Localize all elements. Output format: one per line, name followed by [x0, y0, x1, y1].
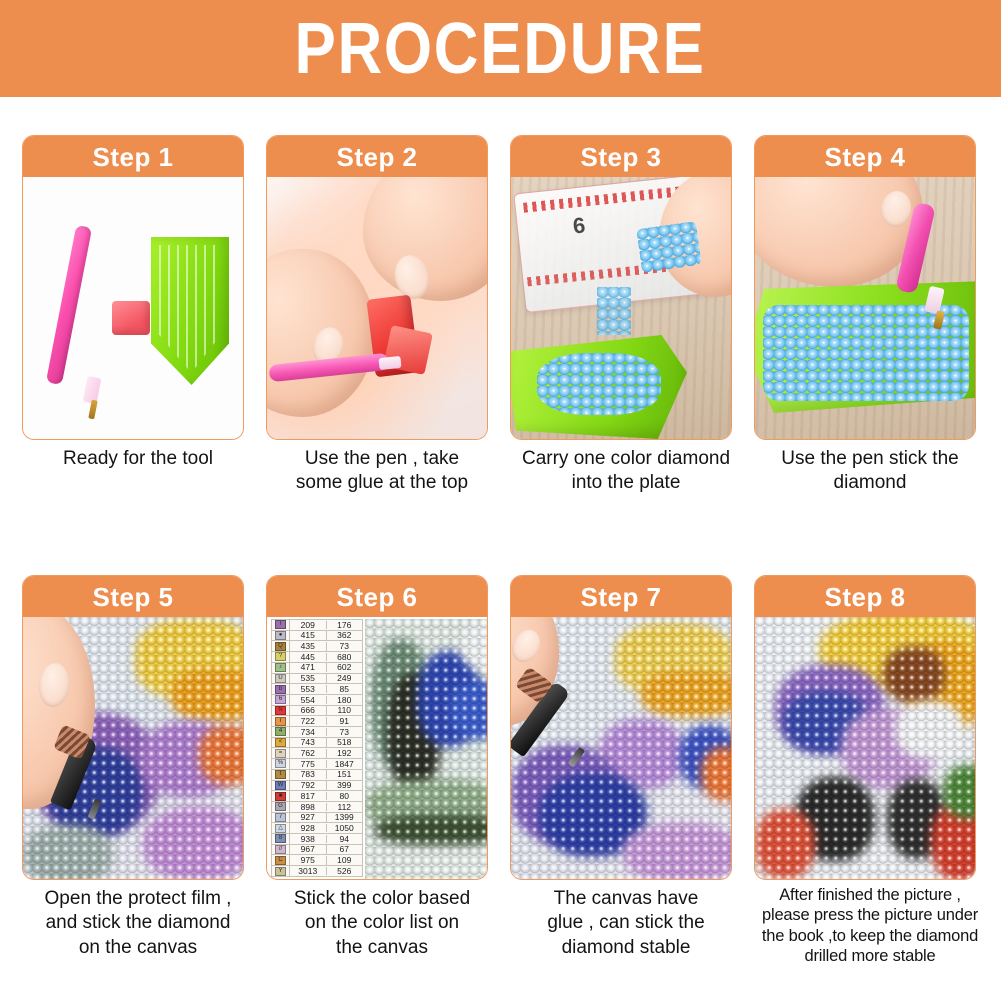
color-code-cell: 722 — [290, 717, 327, 726]
color-code-cell: 898 — [290, 803, 327, 812]
step-5-label: Step 5 — [92, 584, 173, 610]
step-6-illustration: T209176●415362Q43573?445680♪471602U53524… — [267, 617, 487, 879]
color-list-row: △9281050 — [272, 823, 362, 834]
color-count-cell: 110 — [327, 706, 363, 715]
color-symbol-cell: % — [272, 759, 290, 769]
step-2-label: Step 2 — [336, 144, 417, 170]
color-symbol-cell: U — [272, 674, 290, 684]
color-code-cell: 209 — [290, 621, 327, 630]
color-swatch: I — [275, 717, 286, 726]
color-list-row: <743518 — [272, 738, 362, 749]
bag-number-label: 6 — [572, 212, 587, 239]
color-list-row: ●415362 — [272, 631, 362, 642]
pen-tip-icon — [568, 747, 585, 767]
color-count-cell: 67 — [327, 845, 363, 854]
color-code-cell: 553 — [290, 685, 327, 694]
step-5-caption: Open the protect film , and stick the di… — [16, 887, 260, 960]
step-3-label: Step 3 — [580, 144, 661, 170]
color-code-cell: 743 — [290, 738, 327, 747]
color-swatch: W — [275, 781, 286, 790]
color-list-row: U535249 — [272, 674, 362, 685]
color-count-cell: 180 — [327, 696, 363, 705]
color-code-cell: 927 — [290, 813, 327, 822]
color-swatch: ● — [275, 631, 286, 640]
step-6-label: Step 6 — [336, 584, 417, 610]
color-code-cell: 471 — [290, 663, 327, 672]
color-swatch: % — [275, 759, 286, 768]
color-count-cell: 109 — [327, 856, 363, 865]
color-symbol-cell: 6 — [272, 695, 290, 705]
color-list-row: //96767 — [272, 845, 362, 856]
step-card-1: Step 1 Ready for the tool — [16, 97, 260, 549]
step-8-label: Step 8 — [824, 584, 905, 610]
color-swatch: t — [275, 770, 286, 779]
step-4-label: Step 4 — [824, 144, 905, 170]
step-2-caption: Use the pen , take some glue at the top — [260, 447, 504, 496]
color-code-cell: 3013 — [290, 867, 327, 876]
color-list-row: b55385 — [272, 684, 362, 695]
step-card-5: Step 5 — [16, 537, 260, 989]
color-symbol-cell: G — [272, 802, 290, 812]
step-3-caption: Carry one color diamond into the plate — [504, 447, 748, 496]
color-count-cell: 1050 — [327, 824, 363, 833]
diamond-beads-in-bag — [636, 221, 702, 273]
color-code-cell: 783 — [290, 770, 327, 779]
color-list-table: T209176●415362Q43573?445680♪471602U53524… — [271, 619, 363, 877]
color-code-cell: 666 — [290, 706, 327, 715]
color-list-row: 893894 — [272, 834, 362, 845]
color-symbol-cell: 4 — [272, 727, 290, 737]
page-header-banner: PROCEDURE — [0, 0, 1001, 97]
color-swatch: ♪ — [275, 663, 286, 672]
color-symbol-cell: = — [272, 748, 290, 758]
color-count-cell: 399 — [327, 781, 363, 790]
step-7-header: Step 7 — [511, 576, 731, 617]
color-count-cell: 1847 — [327, 760, 363, 769]
steps-row-bottom: Step 5 — [0, 537, 1001, 989]
step-8-illustration — [755, 617, 975, 879]
color-swatch: Q — [275, 642, 286, 651]
color-count-cell: 151 — [327, 770, 363, 779]
color-count-cell: 1399 — [327, 813, 363, 822]
color-symbol-cell: N — [272, 706, 290, 716]
color-list-row: ♪471602 — [272, 663, 362, 674]
color-swatch: C — [275, 856, 286, 865]
color-code-cell: 775 — [290, 760, 327, 769]
color-code-cell: 445 — [290, 653, 327, 662]
step-2-illustration — [267, 177, 487, 439]
step-5-illustration — [23, 617, 243, 879]
step-8-caption: After finished the picture , please pres… — [748, 885, 992, 967]
color-count-cell: 526 — [327, 867, 363, 876]
step-card-8: Step 8 — [748, 537, 992, 989]
color-swatch: 7 — [275, 813, 286, 822]
color-code-cell: 928 — [290, 824, 327, 833]
color-count-cell: 249 — [327, 674, 363, 683]
color-list-row: N666110 — [272, 706, 362, 717]
color-symbol-cell: Y — [272, 866, 290, 876]
step-4-illustration — [755, 177, 975, 439]
color-swatch: 4 — [275, 727, 286, 736]
step-5-card-frame: Step 5 — [22, 575, 244, 880]
color-swatch: N — [275, 706, 286, 715]
diamond-beads-in-tray — [537, 353, 661, 415]
step-1-header: Step 1 — [23, 136, 243, 177]
step-3-card-frame: Step 3 6 — [510, 135, 732, 440]
color-symbol-cell: 8 — [272, 834, 290, 844]
color-count-cell: 518 — [327, 738, 363, 747]
color-swatch: Y — [275, 867, 286, 876]
color-swatch: U — [275, 674, 286, 683]
color-count-cell: 176 — [327, 621, 363, 630]
step-card-6: Step 6 — [260, 537, 504, 989]
color-code-cell: 734 — [290, 728, 327, 737]
color-symbol-cell: ♪ — [272, 663, 290, 673]
color-list-row: 6554180 — [272, 695, 362, 706]
step-7-card-frame: Step 7 — [510, 575, 732, 880]
color-list-row: 473473 — [272, 727, 362, 738]
pen-tip-icon — [88, 798, 102, 819]
step-card-2: Step 2 — [260, 97, 504, 549]
color-symbol-cell: △ — [272, 823, 290, 833]
step-7-illustration — [511, 617, 731, 879]
color-count-cell: 362 — [327, 631, 363, 640]
color-swatch: △ — [275, 824, 286, 833]
color-swatch: T — [275, 620, 286, 629]
color-symbol-cell: 7 — [272, 813, 290, 823]
color-code-cell: 554 — [290, 696, 327, 705]
color-swatch: // — [275, 845, 286, 854]
step-6-caption: Stick the color based on the color list … — [260, 887, 504, 960]
step-8-card-frame: Step 8 — [754, 575, 976, 880]
color-list-row: T209176 — [272, 620, 362, 631]
step-card-7: Step 7 — [504, 537, 748, 989]
step-4-header: Step 4 — [755, 136, 975, 177]
step-7-caption: The canvas have glue , can stick the dia… — [504, 887, 748, 960]
color-code-cell: 762 — [290, 749, 327, 758]
color-list-row: ?445680 — [272, 652, 362, 663]
color-swatch: 6 — [275, 695, 286, 704]
color-code-cell: 975 — [290, 856, 327, 865]
page-title: PROCEDURE — [295, 13, 706, 85]
color-swatch: b — [275, 685, 286, 694]
falling-diamonds — [597, 287, 631, 335]
color-list-row: I72291 — [272, 716, 362, 727]
color-count-cell: 602 — [327, 663, 363, 672]
step-4-caption: Use the pen stick the diamond — [748, 447, 992, 496]
glue-square-icon — [112, 301, 150, 335]
color-count-cell: 73 — [327, 728, 363, 737]
color-list-row: W792399 — [272, 781, 362, 792]
color-count-cell: 112 — [327, 803, 363, 812]
step-3-illustration: 6 — [511, 177, 731, 439]
color-swatch: < — [275, 738, 286, 747]
color-swatch: ? — [275, 652, 286, 661]
color-swatch: = — [275, 749, 286, 758]
step-6-card-frame: Step 6 — [266, 575, 488, 880]
color-count-cell: 192 — [327, 749, 363, 758]
color-count-cell: 91 — [327, 717, 363, 726]
step-2-card-frame: Step 2 — [266, 135, 488, 440]
step-1-card-frame: Step 1 — [22, 135, 244, 440]
color-count-cell: 85 — [327, 685, 363, 694]
step-card-3: Step 3 6 — [504, 97, 748, 549]
color-symbol-cell: Q — [272, 641, 290, 651]
step-1-caption: Ready for the tool — [16, 447, 260, 471]
color-list-row: Y3013526 — [272, 866, 362, 876]
color-symbol-cell: W — [272, 781, 290, 791]
color-symbol-cell: I — [272, 716, 290, 726]
color-list-row: 79271399 — [272, 813, 362, 824]
step-4-card-frame: Step 4 — [754, 135, 976, 440]
step-8-header: Step 8 — [755, 576, 975, 617]
color-code-cell: 792 — [290, 781, 327, 790]
step-card-4: Step 4 — [748, 97, 992, 549]
color-list-row: G898112 — [272, 802, 362, 813]
color-code-cell: 535 — [290, 674, 327, 683]
color-symbol-cell: ● — [272, 631, 290, 641]
finished-mosaic-canvas — [755, 617, 975, 879]
step-6-header: Step 6 — [267, 576, 487, 617]
step-7-label: Step 7 — [580, 584, 661, 610]
step-5-header: Step 5 — [23, 576, 243, 617]
step-1-label: Step 1 — [92, 144, 173, 170]
color-code-cell: 817 — [290, 792, 327, 801]
pen-tip-icon — [378, 356, 401, 370]
color-list-row: t783151 — [272, 770, 362, 781]
color-count-cell: 94 — [327, 835, 363, 844]
color-symbol-cell: T — [272, 620, 290, 630]
color-swatch: 8 — [275, 834, 286, 843]
color-swatch: G — [275, 802, 286, 811]
color-symbol-cell: ■ — [272, 791, 290, 801]
color-symbol-cell: C — [272, 855, 290, 865]
color-list-row: Q43573 — [272, 641, 362, 652]
color-code-cell: 967 — [290, 845, 327, 854]
color-code-cell: 415 — [290, 631, 327, 640]
color-swatch: ■ — [275, 792, 286, 801]
color-list-row: %7751847 — [272, 759, 362, 770]
color-list-row: C975109 — [272, 855, 362, 866]
steps-row-top: Step 1 Ready for the tool — [0, 97, 1001, 549]
step-3-header: Step 3 — [511, 136, 731, 177]
procedure-infographic: PROCEDURE Step 1 — [0, 0, 1001, 1001]
color-list-row: =762192 — [272, 748, 362, 759]
partial-mosaic-canvas — [365, 619, 487, 879]
color-symbol-cell: // — [272, 845, 290, 855]
color-symbol-cell: < — [272, 738, 290, 748]
color-list-row: ■81780 — [272, 791, 362, 802]
steps-grid: Step 1 Ready for the tool — [0, 97, 1001, 1001]
step-2-header: Step 2 — [267, 136, 487, 177]
color-code-cell: 435 — [290, 642, 327, 651]
color-symbol-cell: b — [272, 684, 290, 694]
step-1-illustration — [23, 177, 243, 439]
color-count-cell: 80 — [327, 792, 363, 801]
pink-pen-icon — [46, 225, 92, 385]
color-symbol-cell: ? — [272, 652, 290, 662]
color-code-cell: 938 — [290, 835, 327, 844]
color-count-cell: 680 — [327, 653, 363, 662]
color-symbol-cell: t — [272, 770, 290, 780]
color-count-cell: 73 — [327, 642, 363, 651]
